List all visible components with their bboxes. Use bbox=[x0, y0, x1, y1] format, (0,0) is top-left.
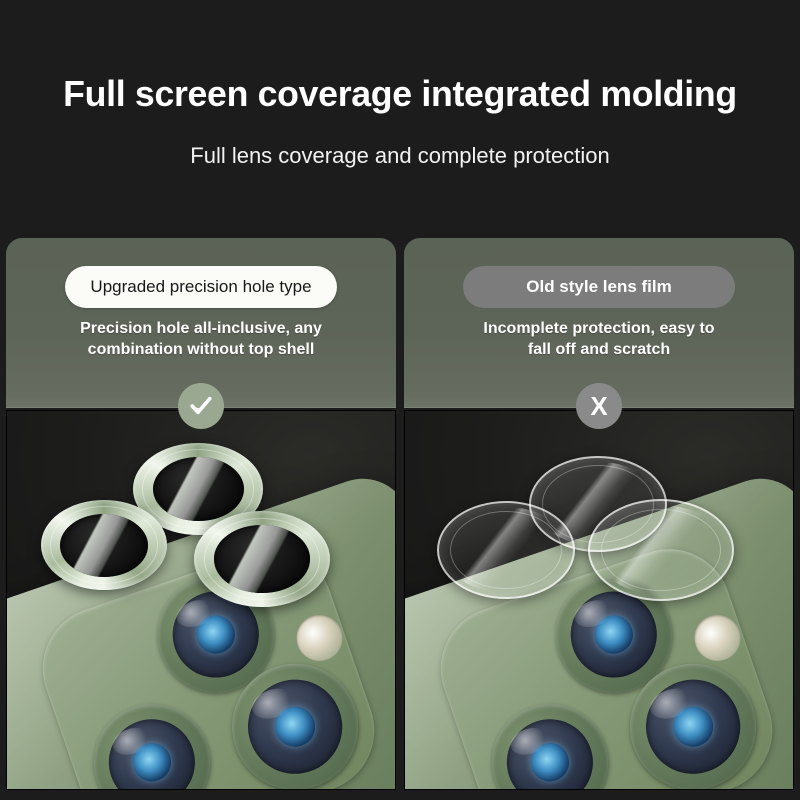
cross-badge: X bbox=[576, 383, 622, 429]
pill-old-style-lens-film[interactable]: Old style lens film bbox=[463, 266, 735, 308]
description-right-line2: fall off and scratch bbox=[404, 339, 794, 360]
product-comparison-page: Full screen coverage integrated molding … bbox=[0, 0, 800, 800]
protector-edge bbox=[50, 506, 158, 583]
camera-lens-ultrawide-left bbox=[78, 689, 225, 790]
x-icon: X bbox=[590, 393, 607, 419]
glass-inner-ring bbox=[450, 511, 563, 590]
description-right: Incomplete protection, easy to fall off … bbox=[404, 318, 794, 360]
check-badge bbox=[178, 383, 224, 429]
product-photo-upgraded bbox=[6, 410, 396, 790]
metal-ring-protector-right bbox=[194, 511, 330, 607]
description-left: Precision hole all-inclusive, any combin… bbox=[6, 318, 396, 360]
comparison-section: Upgraded precision hole type Precision h… bbox=[0, 0, 800, 800]
description-right-line1: Incomplete protection, easy to bbox=[404, 318, 794, 339]
product-photo-old-style bbox=[404, 410, 794, 790]
camera-lens-ultrawide-right bbox=[476, 689, 623, 790]
metal-ring-protector-left bbox=[41, 500, 167, 590]
pill-upgraded-precision-hole-type[interactable]: Upgraded precision hole type bbox=[65, 266, 337, 308]
description-left-line1: Precision hole all-inclusive, any bbox=[6, 318, 396, 339]
glass-inner-ring bbox=[601, 509, 720, 591]
protector-edge bbox=[204, 518, 321, 601]
check-icon bbox=[188, 393, 214, 419]
glass-film-disc-left bbox=[437, 501, 575, 599]
glass-film-disc-right bbox=[588, 499, 734, 601]
description-left-line2: combination without top shell bbox=[6, 339, 396, 360]
